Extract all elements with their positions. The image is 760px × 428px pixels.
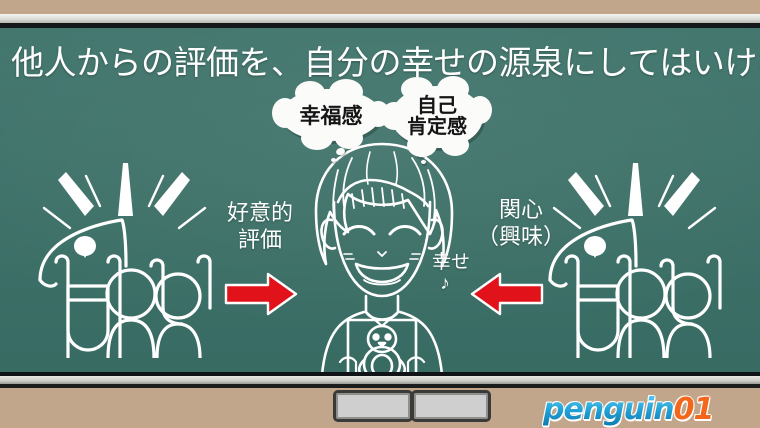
brand-logo-part1: penguin	[543, 392, 674, 427]
label-interest-line2: （興味）	[462, 224, 580, 251]
blackboard-frame-top	[0, 14, 760, 23]
thought-bubble-self-affirmation: 自己 肯定感	[391, 86, 483, 148]
illustration-right-cheering-group	[540, 158, 730, 358]
thought-bubble-self-affirmation-line1: 自己	[417, 96, 457, 117]
bubble-lump	[335, 127, 363, 149]
arrow-left-icon	[470, 272, 544, 316]
thought-bubble-happiness-text: 幸福感	[300, 100, 363, 130]
page-title: 他人からの評価を、自分の幸せの源泉にしてはいけない理由	[11, 42, 753, 84]
label-interest: 関心 （興味）	[462, 197, 580, 251]
label-happiness-note: 幸せ ♪	[432, 252, 458, 295]
arrow-right-icon	[224, 272, 298, 316]
chalk-eraser-2[interactable]	[411, 390, 491, 422]
wall-top	[0, 0, 760, 14]
blackboard-frame-bottom	[0, 376, 760, 384]
chalk-eraser-1[interactable]	[333, 390, 413, 422]
thought-bubble-happiness: 幸福感	[281, 89, 381, 141]
thought-dot-right-tiny	[421, 160, 426, 164]
thought-dot-left-tiny	[331, 158, 336, 162]
label-interest-line1: 関心	[462, 197, 580, 224]
illustration-left-cheering-group	[30, 158, 220, 358]
label-happiness-note-line1: 幸せ	[432, 252, 458, 273]
label-happiness-note-line2: ♪	[432, 273, 458, 294]
brand-logo-part2: 01	[674, 392, 714, 427]
thought-bubble-self-affirmation-line2: 肯定感	[407, 117, 467, 138]
slide-canvas: 他人からの評価を、自分の幸せの源泉にしてはいけない理由	[0, 0, 760, 428]
label-favorable-evaluation-line1: 好意的	[214, 200, 306, 227]
label-favorable-evaluation-line2: 評価	[214, 227, 306, 254]
label-favorable-evaluation: 好意的 評価	[214, 200, 306, 254]
brand-logo: penguin01gou	[543, 392, 760, 424]
